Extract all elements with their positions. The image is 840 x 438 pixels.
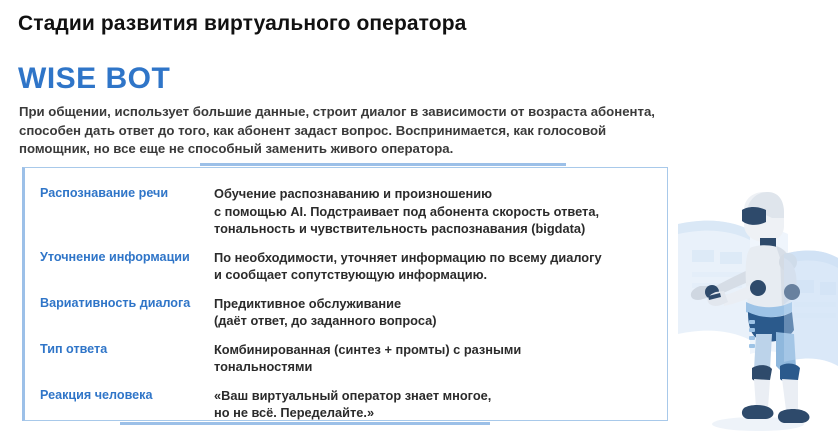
table-row: Уточнение информации По необходимости, у… (22, 249, 668, 284)
desc-line: тональностями (214, 358, 660, 376)
page-title: Стадии развития виртуального оператора (18, 12, 466, 36)
row-label-speech-recognition: Распознавание речи (22, 185, 214, 202)
robot-visor (742, 207, 766, 225)
desc-line: Обучение распознаванию и произношению (214, 185, 660, 203)
hologram-screen-foreground (784, 251, 838, 366)
table-row: Тип ответа Комбинированная (синтез + про… (22, 341, 668, 376)
feature-table: Распознавание речи Обучение распознавани… (22, 167, 668, 421)
robot-foot-right (778, 409, 810, 423)
brand-title: WISE BOT (18, 62, 170, 96)
row-description-dialog-variability: Предиктивное обслуживание (даёт ответ, д… (214, 295, 668, 330)
robot-foot-left (742, 405, 774, 419)
robot-hand-joint-front (750, 280, 766, 296)
row-label-information-clarification: Уточнение информации (22, 249, 214, 266)
desc-line: и сообщает сопутствующую информацию. (214, 266, 660, 284)
row-label-dialog-variability: Вариативность диалога (22, 295, 214, 312)
row-label-human-reaction: Реакция человека (22, 387, 214, 404)
desc-line: но не всё. Переделайте.» (214, 404, 660, 422)
row-description-information-clarification: По необходимости, уточняет информацию по… (214, 249, 668, 284)
desc-line: с помощью AI. Подстраивает под абонента … (214, 203, 660, 221)
intro-paragraph: При общении, использует большие данные, … (19, 103, 659, 159)
desc-line: (даёт ответ, до заданного вопроса) (214, 312, 660, 330)
accent-rule-top (200, 163, 566, 166)
row-description-answer-type: Комбинированная (синтез + промты) с разн… (214, 341, 668, 376)
accent-rule-bottom (120, 422, 490, 425)
desc-line: Предиктивное обслуживание (214, 295, 660, 313)
desc-line: По необходимости, уточняет информацию по… (214, 249, 660, 267)
row-description-human-reaction: «Ваш виртуальный оператор знает многое, … (214, 387, 668, 422)
row-label-answer-type: Тип ответа (22, 341, 214, 358)
row-description-speech-recognition: Обучение распознаванию и произношению с … (214, 185, 668, 238)
desc-line: тональность и чувствительность распознав… (214, 220, 660, 238)
table-row: Вариативность диалога Предиктивное обслу… (22, 295, 668, 330)
table-row: Распознавание речи Обучение распознавани… (22, 185, 668, 238)
table-row: Реакция человека «Ваш виртуальный операт… (22, 387, 668, 422)
desc-line: «Ваш виртуальный оператор знает многое, (214, 387, 660, 405)
desc-line: Комбинированная (синтез + промты) с разн… (214, 341, 660, 359)
robot-illustration (672, 188, 840, 438)
robot-with-holographic-screens-icon (672, 188, 840, 438)
